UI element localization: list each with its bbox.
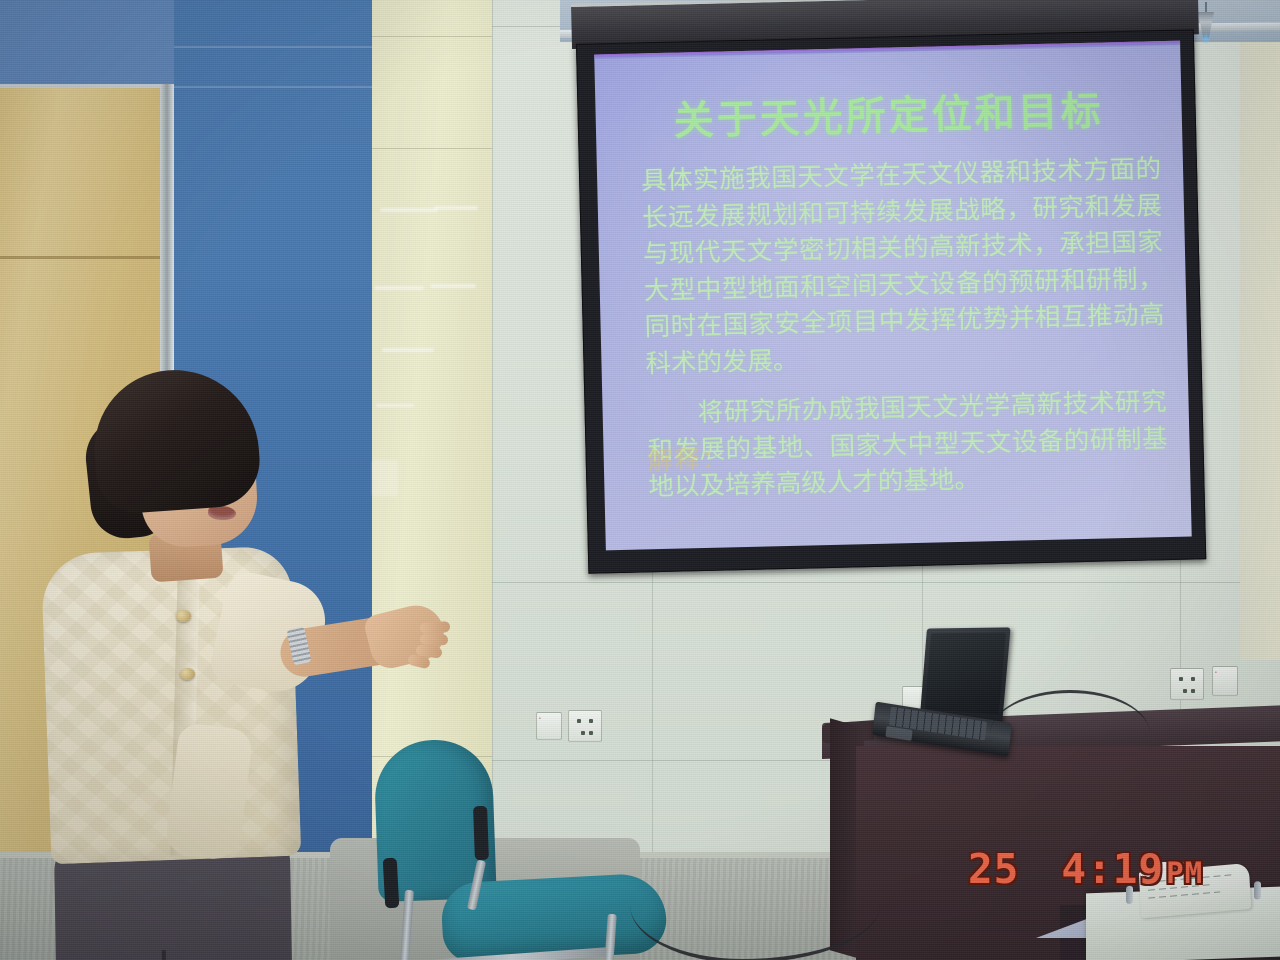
finger <box>420 621 451 634</box>
laptop-screen <box>920 627 1011 723</box>
photo-scene: ● ● 关于天光所定位和目标 具体实施我国天文学在天文仪器和技术方面的长远发展规… <box>0 0 1280 960</box>
laptop-computer[interactable] <box>874 628 1034 756</box>
open-notebook[interactable] <box>1086 887 1280 960</box>
slide-title: 关于天光所定位和目标 <box>595 77 1182 149</box>
camera-timestamp: 25 4:19PM <box>968 845 1203 893</box>
presenter <box>22 360 442 960</box>
projection-screen: 关于天光所定位和目标 具体实施我国天文学在天文仪器和技术方面的长远发展规划和可持… <box>571 0 1211 584</box>
wall-switch-plate[interactable]: ● <box>536 712 562 740</box>
timestamp-day: 25 <box>968 845 1019 893</box>
wall-power-outlet[interactable] <box>568 710 602 742</box>
projected-slide: 关于天光所定位和目标 具体实施我国天文学在天文仪器和技术方面的长远发展规划和可持… <box>594 41 1192 551</box>
far-right-wall-panel <box>1240 0 1280 660</box>
slide-note: 解释： <box>647 439 729 477</box>
chair-back-support-right <box>473 806 489 860</box>
finger <box>420 634 448 646</box>
slide-paragraph-1: 具体实施我国天文学在天文仪器和技术方面的长远发展规划和可持续发展战略，研究和发展… <box>641 151 1166 382</box>
hair <box>89 364 262 515</box>
wall-power-outlet[interactable] <box>1170 668 1204 700</box>
timestamp-time: 4:19PM <box>1061 845 1203 893</box>
timestamp-clock: 4:19 <box>1061 845 1164 893</box>
blouse-button <box>176 610 191 622</box>
track-light-icon <box>1196 2 1216 42</box>
timestamp-ampm: PM <box>1166 856 1203 890</box>
screen-frame: 关于天光所定位和目标 具体实施我国天文学在天文仪器和技术方面的长远发展规划和可持… <box>576 29 1206 573</box>
blouse-button <box>180 668 195 680</box>
wall-switch-plate[interactable]: ● <box>1212 666 1238 696</box>
